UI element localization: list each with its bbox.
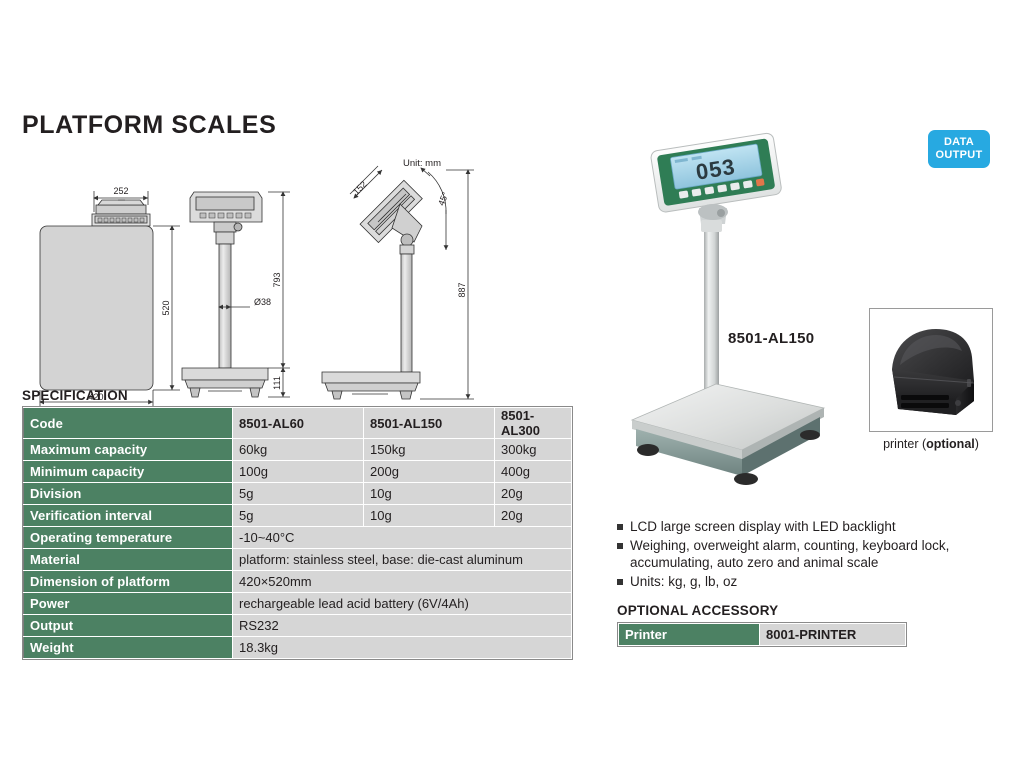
specification-table-wrap: Code 8501-AL60 8501-AL150 8501-AL300 Max…	[22, 406, 573, 660]
feature-item: Weighing, overweight alarm, counting, ke…	[617, 537, 989, 572]
row-value: 10g	[364, 483, 495, 505]
table-row: Power rechargeable lead acid battery (6V…	[24, 593, 572, 615]
table-row: Verification interval 5g 10g 20g	[24, 505, 572, 527]
printer-caption-bold: optional	[926, 437, 975, 451]
table-row: Output RS232	[24, 615, 572, 637]
row-label: Division	[24, 483, 233, 505]
model-label: 8501-AL150	[728, 330, 814, 347]
row-value: 8501-AL150	[364, 408, 495, 439]
page-title: PLATFORM SCALES	[22, 112, 582, 140]
row-value: 100g	[233, 461, 364, 483]
printer-photo-svg	[870, 309, 990, 429]
spec-sheet-page: PLATFORM SCALES	[0, 0, 1024, 768]
row-label: Material	[24, 549, 233, 571]
left-panel: PLATFORM SCALES	[22, 112, 582, 146]
specification-table: Code 8501-AL60 8501-AL150 8501-AL300 Max…	[23, 407, 572, 659]
row-value: 18.3kg	[233, 637, 572, 659]
feature-text: LCD large screen display with LED backli…	[630, 518, 896, 536]
row-value: RS232	[233, 615, 572, 637]
feature-text: Weighing, overweight alarm, counting, ke…	[630, 537, 989, 572]
printer-photo	[869, 308, 993, 432]
row-value: 8501-AL300	[495, 408, 572, 439]
table-row: Printer 8001-PRINTER	[619, 624, 906, 646]
printer-caption-prefix: printer (	[883, 437, 926, 451]
row-value: 300kg	[495, 439, 572, 461]
svg-text:152: 152	[351, 179, 369, 197]
row-label: Maximum capacity	[24, 439, 233, 461]
optional-accessory-table-body: Printer 8001-PRINTER	[619, 624, 906, 646]
row-value: rechargeable lead acid battery (6V/4Ah)	[233, 593, 572, 615]
row-value: 420×520mm	[233, 571, 572, 593]
row-value: 8501-AL60	[233, 408, 364, 439]
optional-accessory-heading: OPTIONAL ACCESSORY	[617, 603, 778, 618]
table-row: Code 8501-AL60 8501-AL150 8501-AL300	[24, 408, 572, 439]
feature-list: LCD large screen display with LED backli…	[617, 518, 989, 591]
row-value: 400g	[495, 461, 572, 483]
row-label: Output	[24, 615, 233, 637]
svg-text:252: 252	[113, 186, 128, 196]
table-row: Maximum capacity 60kg 150kg 300kg	[24, 439, 572, 461]
row-label: Printer	[619, 624, 760, 646]
table-row: Material platform: stainless steel, base…	[24, 549, 572, 571]
table-row: Dimension of platform 420×520mm	[24, 571, 572, 593]
table-row: Weight 18.3kg	[24, 637, 572, 659]
data-output-badge: DATA OUTPUT	[928, 130, 990, 168]
product-photo-svg: 053	[596, 120, 856, 490]
row-label: Weight	[24, 637, 233, 659]
svg-text:793: 793	[272, 272, 282, 287]
svg-text:Ø38: Ø38	[254, 297, 271, 307]
optional-accessory-table-wrap: Printer 8001-PRINTER	[617, 622, 907, 647]
row-value: 5g	[233, 483, 364, 505]
printer-caption: printer (optional)	[869, 437, 993, 451]
badge-line-1: DATA	[944, 136, 974, 149]
specification-heading: SPECIFICATION	[22, 388, 128, 403]
row-label: Dimension of platform	[24, 571, 233, 593]
row-value: 150kg	[364, 439, 495, 461]
bullet-square-icon	[617, 543, 623, 549]
row-value: 20g	[495, 505, 572, 527]
svg-text:Unit: mm: Unit: mm	[403, 158, 441, 169]
technical-drawings: 252	[22, 150, 502, 410]
row-value: platform: stainless steel, base: die-cas…	[233, 549, 572, 571]
row-label: Power	[24, 593, 233, 615]
drawings-svg: 252	[22, 150, 502, 412]
bullet-square-icon	[617, 579, 623, 585]
row-value: -10~40°C	[233, 527, 572, 549]
row-value: 8001-PRINTER	[760, 624, 906, 646]
feature-item: Units: kg, g, lb, oz	[617, 573, 989, 591]
bullet-square-icon	[617, 524, 623, 530]
row-label: Verification interval	[24, 505, 233, 527]
row-label: Code	[24, 408, 233, 439]
optional-accessory-table: Printer 8001-PRINTER	[618, 623, 906, 646]
row-value: 60kg	[233, 439, 364, 461]
row-value: 5g	[233, 505, 364, 527]
row-value: 20g	[495, 483, 572, 505]
svg-text:887: 887	[457, 282, 467, 297]
row-label: Minimum capacity	[24, 461, 233, 483]
table-row: Division 5g 10g 20g	[24, 483, 572, 505]
feature-text: Units: kg, g, lb, oz	[630, 573, 737, 591]
svg-text:45°: 45°	[436, 190, 451, 207]
svg-text:520: 520	[161, 300, 171, 315]
row-value: 200g	[364, 461, 495, 483]
feature-item: LCD large screen display with LED backli…	[617, 518, 989, 536]
printer-caption-suffix: )	[975, 437, 979, 451]
product-photo-platform-scale: 053	[596, 120, 856, 490]
row-label: Operating temperature	[24, 527, 233, 549]
svg-text:111: 111	[272, 376, 282, 390]
row-value: 10g	[364, 505, 495, 527]
specification-table-body: Code 8501-AL60 8501-AL150 8501-AL300 Max…	[24, 408, 572, 659]
badge-line-2: OUTPUT	[935, 149, 982, 162]
table-row: Operating temperature -10~40°C	[24, 527, 572, 549]
table-row: Minimum capacity 100g 200g 400g	[24, 461, 572, 483]
